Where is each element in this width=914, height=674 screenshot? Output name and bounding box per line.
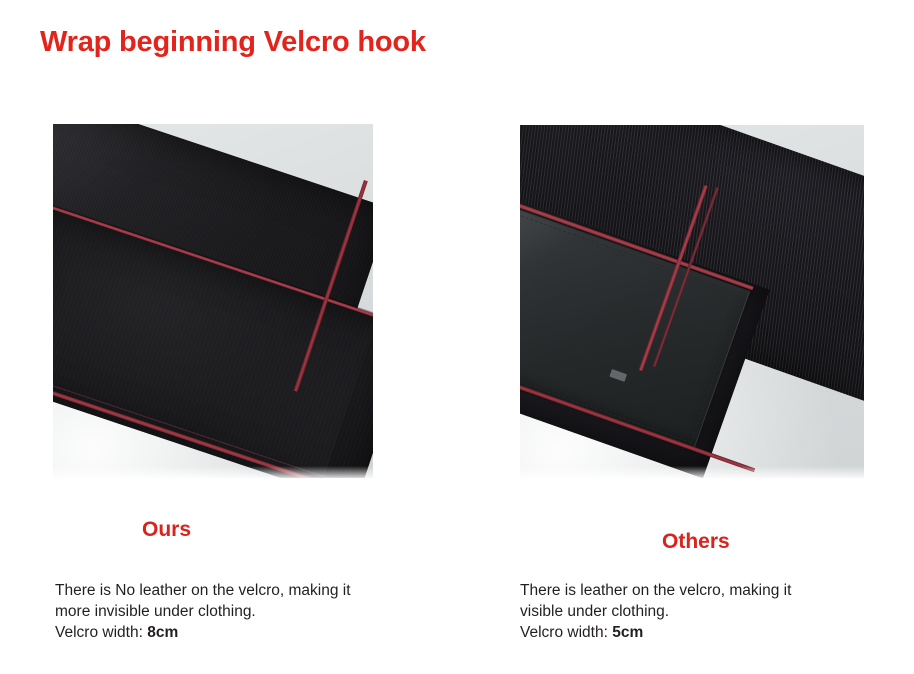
ours-product-photo: [53, 124, 373, 478]
caption-ours-line-2: more invisible under clothing.: [55, 601, 455, 622]
caption-others-line-1: There is leather on the velcro, making i…: [520, 580, 910, 601]
caption-others-spec-label: Velcro width:: [520, 624, 608, 641]
caption-others: There is leather on the velcro, making i…: [520, 580, 910, 643]
photo-content-left: [53, 124, 373, 478]
column-heading-ours: Ours: [142, 518, 191, 542]
caption-others-spec-value: 5cm: [612, 624, 643, 641]
caption-others-line-2: visible under clothing.: [520, 601, 910, 622]
caption-ours-spec: Velcro width: 8cm: [55, 622, 455, 643]
caption-others-spec: Velcro width: 5cm: [520, 622, 910, 643]
caption-ours: There is No leather on the velcro, makin…: [55, 580, 455, 643]
page-title: Wrap beginning Velcro hook: [40, 26, 426, 59]
photo-bottom-fade-left: [53, 466, 373, 478]
column-heading-others: Others: [662, 530, 730, 554]
caption-ours-line-1: There is No leather on the velcro, makin…: [55, 580, 455, 601]
caption-ours-spec-value: 8cm: [147, 624, 178, 641]
photo-content-right: [520, 125, 864, 478]
caption-ours-spec-label: Velcro width:: [55, 624, 143, 641]
photo-bottom-fade-right: [520, 466, 864, 478]
others-product-photo: [520, 125, 864, 478]
